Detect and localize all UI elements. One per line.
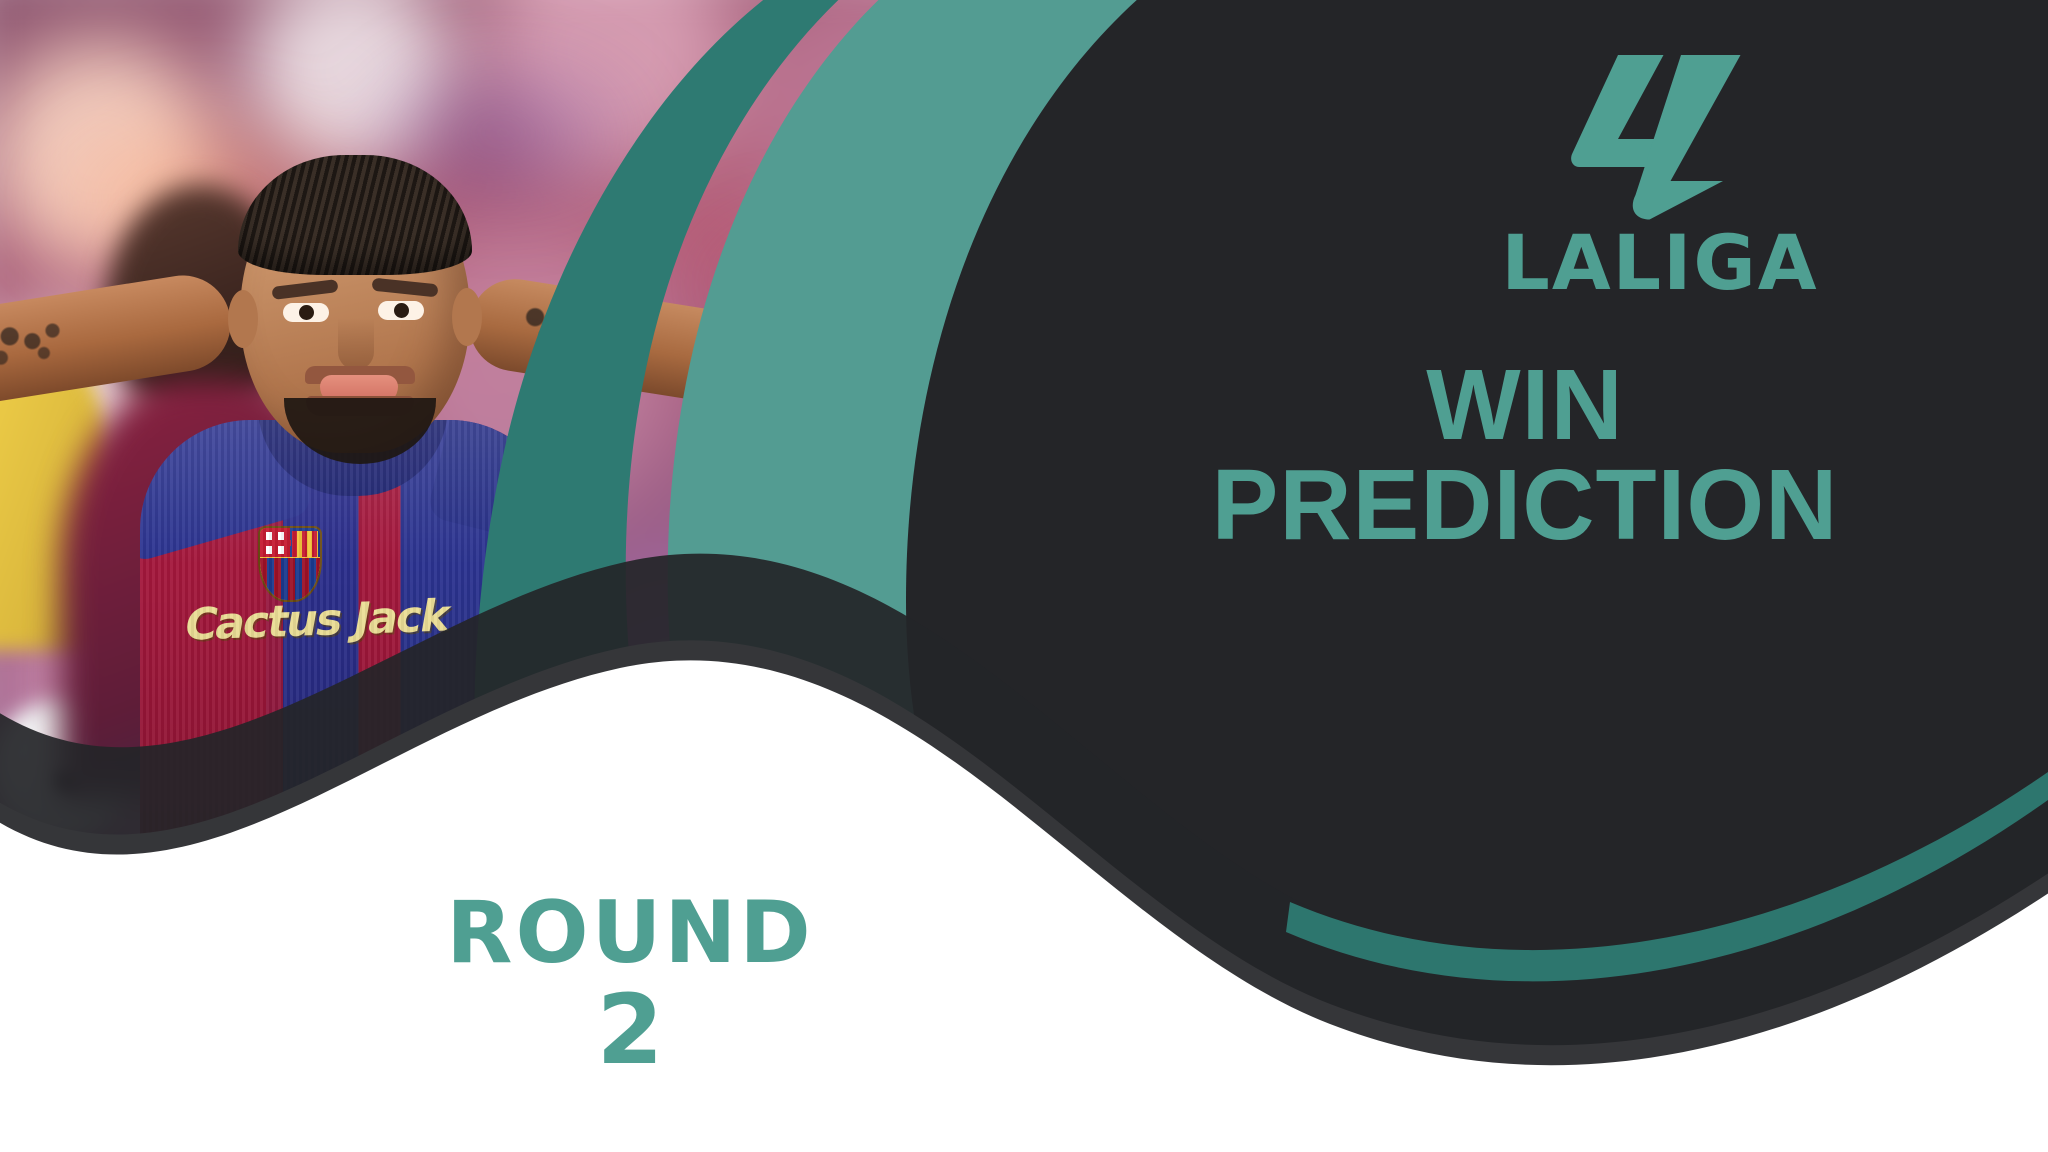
headline-line-1: WIN <box>1015 355 2035 455</box>
laliga-logo-lockup: LALIGA <box>1430 48 1890 299</box>
round-label: ROUND <box>400 890 860 978</box>
laliga-lightning-logo-icon <box>1555 48 1765 223</box>
round-indicator: ROUND 2 <box>400 890 860 1080</box>
headline: WIN PREDICTION <box>1015 355 2035 555</box>
laliga-wordmark: LALIGA <box>1430 227 1890 299</box>
headline-line-2: PREDICTION <box>1015 455 2035 555</box>
win-prediction-graphic: Cactus Jack <box>0 0 2048 1152</box>
round-number: 2 <box>400 982 860 1080</box>
